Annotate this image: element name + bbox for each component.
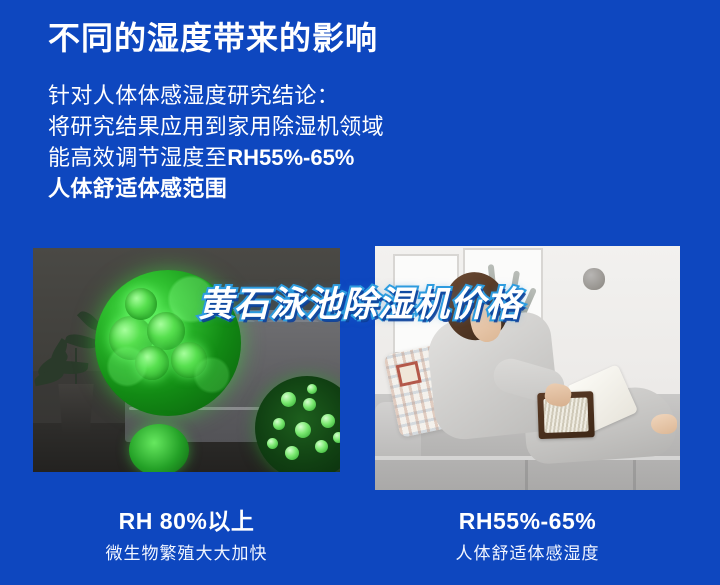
germ-dot (333, 432, 340, 443)
germ-blob (135, 346, 169, 380)
caption-right-title: RH55%-65% (375, 506, 680, 536)
wall-decor-knob (583, 268, 605, 290)
light-sofa-seam (525, 460, 528, 490)
body-line-3-prefix: 能高效调节湿度至 (48, 145, 227, 170)
page-title: 不同的湿度带来的影响 (48, 18, 378, 58)
body-line-2: 将研究结果应用到家用除湿机领域 (48, 111, 478, 142)
caption-left-subtitle: 微生物繁殖大大加快 (33, 541, 340, 567)
photo-left-high-humidity (33, 248, 340, 472)
dark-room-scene (33, 248, 340, 472)
germ-blob (125, 288, 157, 320)
caption-right: RH55%-65% 人体舒适体感湿度 (375, 506, 680, 567)
germ-blob (171, 342, 207, 378)
photo-right-comfort-humidity (375, 246, 680, 490)
caption-left: RH 80%以上 微生物繁殖大大加快 (33, 506, 340, 567)
germ-blob (147, 312, 185, 350)
germ-dot (321, 414, 335, 428)
caption-right-subtitle: 人体舒适体感湿度 (375, 541, 680, 567)
germ-dot (315, 440, 328, 453)
open-book (529, 370, 633, 445)
germ-dot (307, 384, 317, 394)
caption-left-title: RH 80%以上 (33, 506, 340, 536)
body-line-1: 针对人体体感湿度研究结论： (48, 80, 478, 111)
poster-canvas: 不同的湿度带来的影响 针对人体体感湿度研究结论： 将研究结果应用到家用除湿机领域… (0, 0, 720, 585)
germ-dot (303, 398, 316, 411)
germ-dot (273, 418, 285, 430)
germ-cluster-large (95, 270, 241, 416)
pillow-motif (396, 361, 422, 387)
light-room-scene (375, 246, 680, 490)
germ-dot (267, 438, 278, 449)
body-line-3-rh-value: RH55%-65% (227, 145, 354, 170)
light-sofa-seam (633, 460, 636, 490)
germ-dot (295, 422, 311, 438)
person-foot (651, 414, 677, 434)
germ-cluster-small-front (129, 424, 189, 472)
body-copy-block: 针对人体体感湿度研究结论： 将研究结果应用到家用除湿机领域 能高效调节湿度至RH… (48, 80, 478, 204)
germ-dot (285, 446, 299, 460)
body-line-4: 人体舒适体感范围 (48, 173, 478, 204)
body-line-3: 能高效调节湿度至RH55%-65% (48, 142, 478, 173)
germ-blob (109, 316, 153, 360)
germ-dot (281, 392, 296, 407)
